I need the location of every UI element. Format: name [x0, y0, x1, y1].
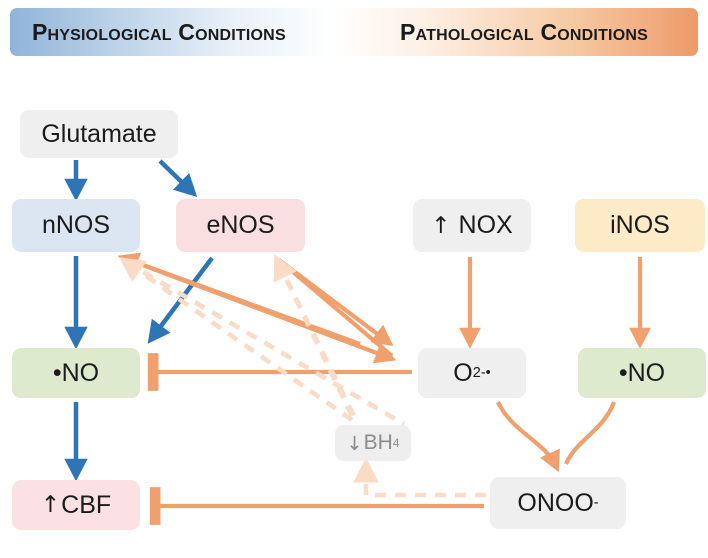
node-inos-label: iNOS: [610, 211, 670, 240]
edge-superoxide-to-onoo: [498, 402, 556, 466]
arrow-layer: BH4 (faded dashed, horizontal then up) -…: [0, 0, 708, 558]
up-arrow-icon: ↑: [41, 492, 61, 518]
banner-label-pathological: Pathological Conditions: [400, 8, 648, 56]
edge-glutamate-to-enos: [160, 161, 192, 192]
node-nnos[interactable]: nNOS: [12, 199, 140, 252]
node-nitric-oxide-physiological[interactable]: •NO: [12, 348, 140, 398]
banner-label-physiological: Physiological Conditions: [32, 8, 286, 56]
edge-nnos-bh4-to-superoxide: [126, 262, 404, 424]
conditions-banner: Physiological Conditions Pathological Co…: [10, 8, 698, 56]
node-bh4-label: BH: [364, 431, 393, 455]
edge-nnos-uncoupled-to-superoxide: [124, 258, 390, 358]
node-onoo-label: ONOO: [517, 489, 593, 518]
edge-onoo-reduces-bh4: [366, 466, 486, 495]
edge-enos-uncoupled-to-superoxide: [279, 260, 388, 342]
edge-enos-bh4-to-superoxide: [278, 262, 356, 420]
node-enos-label: eNOS: [206, 211, 274, 240]
edge-onoo-uncouples-enos: [279, 260, 392, 356]
node-nnos-label: nNOS: [42, 211, 110, 240]
edge-bh4-loss-to-enos: [278, 262, 352, 416]
node-superoxide-label: O: [453, 359, 472, 388]
node-bh4[interactable]: ↓BH4: [335, 425, 411, 461]
edge-enos-to-no: [152, 258, 212, 338]
node-inos[interactable]: iNOS: [575, 199, 705, 252]
node-enos[interactable]: eNOS: [176, 199, 305, 252]
down-arrow-icon: ↓: [346, 432, 363, 455]
node-nox-label: NOX: [459, 211, 513, 240]
node-nitric-oxide-pathological[interactable]: •NO: [578, 348, 706, 398]
node-glutamate-label: Glutamate: [41, 120, 156, 149]
node-superoxide[interactable]: O2-•: [418, 348, 526, 398]
node-no-right-label: •NO: [619, 359, 665, 388]
node-glutamate[interactable]: Glutamate: [20, 110, 178, 158]
pathway-figure: Physiological Conditions Pathological Co…: [0, 0, 708, 558]
node-no-left-label: •NO: [53, 359, 99, 388]
edge-bh4-loss-to-nnos: [126, 262, 352, 420]
node-nox[interactable]: ↑ NOX: [413, 199, 531, 252]
edge-no-right-to-onoo: [566, 402, 614, 464]
node-peroxynitrite[interactable]: ONOO-: [490, 477, 626, 529]
node-cbf-label: CBF: [61, 491, 111, 520]
node-cbf[interactable]: ↑CBF: [12, 480, 140, 530]
edge-onoo-uncouples-nnos: [124, 258, 360, 344]
up-arrow-icon: ↑: [431, 213, 451, 239]
